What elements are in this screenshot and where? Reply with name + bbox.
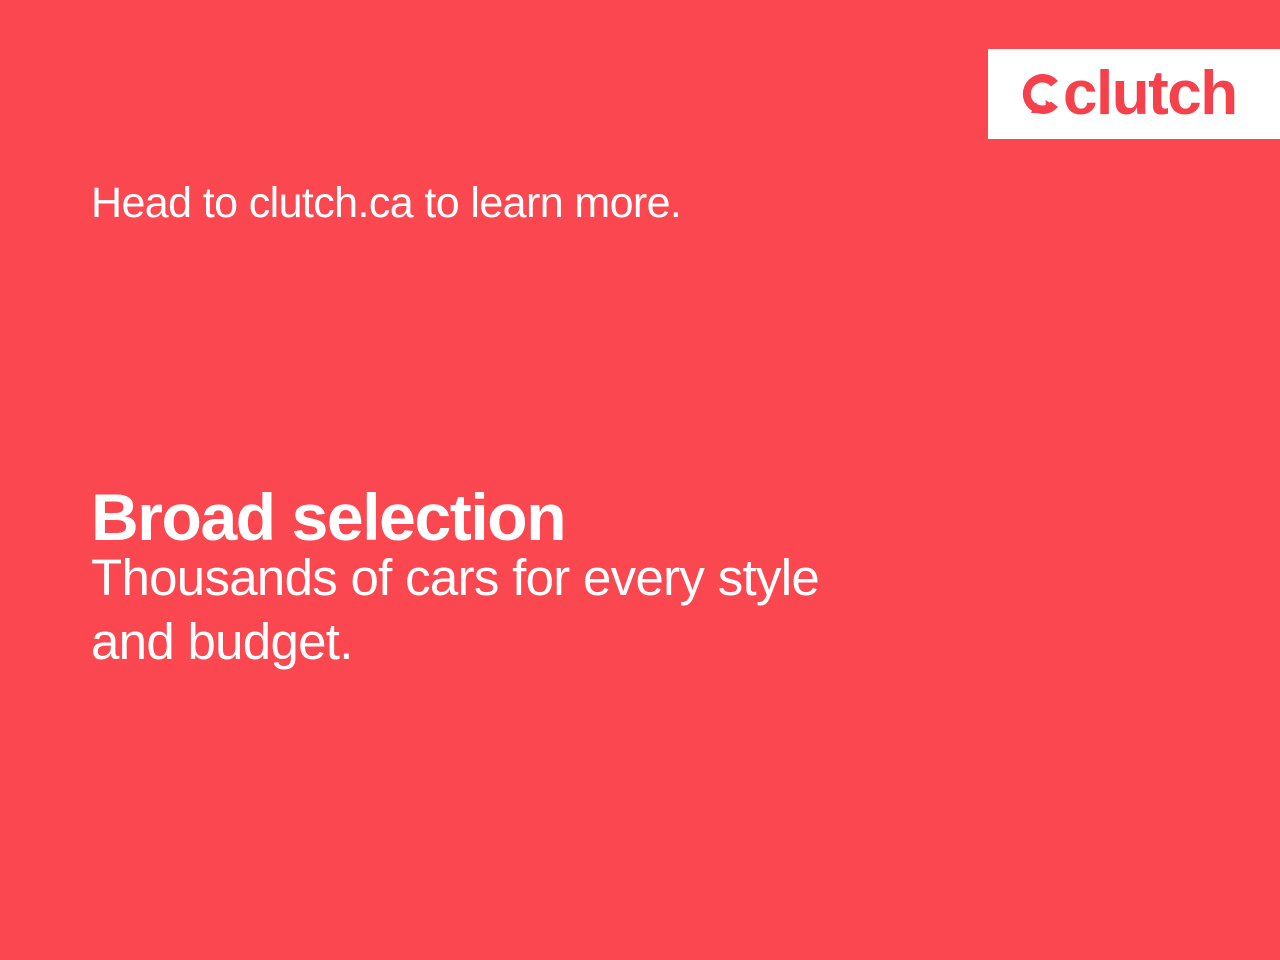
clutch-logo[interactable]: clutch: [1014, 49, 1237, 139]
clutch-logo-plate[interactable]: clutch: [988, 49, 1280, 139]
subhead-text: Thousands of cars for every style and bu…: [91, 546, 819, 675]
page-title: Broad selection: [91, 484, 565, 550]
kicker-text: Head to clutch.ca to learn more.: [91, 182, 681, 225]
subhead-line-1: Thousands of cars for every style: [91, 546, 819, 610]
promo-slide: clutch Head to clutch.ca to learn more. …: [0, 0, 1280, 960]
clutch-c-mark-icon: [1014, 69, 1064, 119]
subhead-line-2: and budget.: [91, 610, 819, 674]
clutch-wordmark-text: clutch: [1063, 63, 1237, 125]
